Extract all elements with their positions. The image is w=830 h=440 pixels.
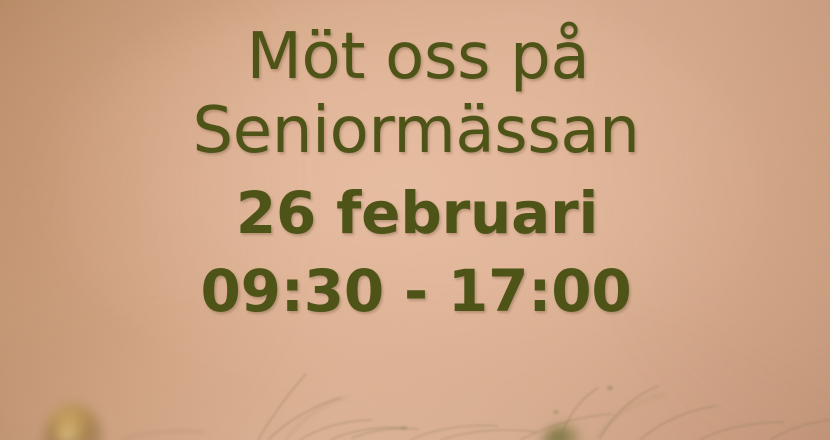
- headline-lead-line-2: Seniormässan: [0, 92, 830, 170]
- headline-lead-line-1: Möt oss på: [0, 18, 830, 96]
- poster-canvas: Möt oss på Seniormässan 26 februari 09:3…: [0, 0, 830, 440]
- headline-block: Möt oss på Seniormässan 26 februari 09:3…: [0, 0, 830, 330]
- event-time-range: 09:30 - 17:00: [0, 253, 830, 330]
- event-date: 26 februari: [0, 175, 830, 252]
